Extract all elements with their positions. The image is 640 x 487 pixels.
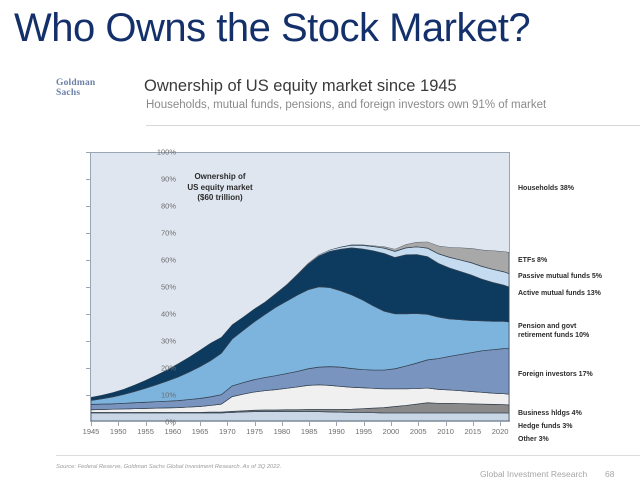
- legend-label: Pension and govt retirement funds 10%: [518, 322, 589, 340]
- y-axis-tick-label: 70%: [136, 229, 176, 238]
- divider-bottom: [56, 455, 640, 456]
- legend-label: Active mutual funds 13%: [518, 289, 601, 298]
- y-axis-tick-label: 10%: [136, 391, 176, 400]
- x-axis-tick-label: 1965: [192, 427, 209, 436]
- y-axis-tick-mark: [86, 179, 90, 180]
- x-axis-tick-mark: [473, 422, 474, 426]
- x-axis-tick-label: 1985: [301, 427, 318, 436]
- x-axis-tick-label: 2020: [492, 427, 509, 436]
- y-axis-tick-label: 50%: [136, 283, 176, 292]
- y-axis-tick-mark: [86, 341, 90, 342]
- y-axis-tick-mark: [86, 206, 90, 207]
- x-axis-tick-mark: [227, 422, 228, 426]
- logo-line-2: Sachs: [56, 89, 95, 99]
- x-axis-tick-label: 1960: [164, 427, 181, 436]
- y-axis-tick-mark: [86, 368, 90, 369]
- area-chart: 0%10%20%30%40%50%60%70%80%90%100% 194519…: [50, 142, 640, 454]
- x-axis-tick-mark: [200, 422, 201, 426]
- annotation-line: Ownership of: [155, 172, 285, 183]
- legend-label: Foreign investors 17%: [518, 370, 593, 379]
- page-title: Who Owns the Stock Market?: [14, 6, 530, 51]
- x-axis-tick-mark: [364, 422, 365, 426]
- footer-page-number: 68: [605, 469, 614, 479]
- legend-label: Households 38%: [518, 184, 574, 193]
- x-axis-tick-label: 1975: [246, 427, 263, 436]
- x-axis-tick-label: 2000: [383, 427, 400, 436]
- x-axis-tick-mark: [391, 422, 392, 426]
- legend-label: Hedge funds 3%: [518, 422, 572, 431]
- y-axis-tick-mark: [86, 314, 90, 315]
- legend-label: Other 3%: [518, 435, 549, 444]
- annotation-line: ($60 trillion): [155, 193, 285, 204]
- x-axis-tick-label: 1995: [355, 427, 372, 436]
- divider-top: [146, 125, 640, 126]
- x-axis-tick-label: 2010: [437, 427, 454, 436]
- slide-subheading: Households, mutual funds, pensions, and …: [146, 99, 546, 111]
- x-axis-tick-label: 2015: [464, 427, 481, 436]
- y-axis-tick-mark: [86, 152, 90, 153]
- footer-label: Global Investment Research: [480, 469, 587, 479]
- x-axis-tick-mark: [336, 422, 337, 426]
- y-axis-tick-mark: [86, 395, 90, 396]
- source-note: Source: Federal Reserve, Goldman Sachs G…: [56, 464, 281, 470]
- goldman-sachs-logo: Goldman Sachs: [56, 79, 95, 98]
- x-axis-tick-mark: [500, 422, 501, 426]
- x-axis-tick-label: 1945: [83, 427, 100, 436]
- slide-heading: Ownership of US equity market since 1945: [144, 77, 457, 96]
- x-axis-tick-label: 1970: [219, 427, 236, 436]
- x-axis-tick-mark: [118, 422, 119, 426]
- legend-label: ETFs 8%: [518, 256, 547, 265]
- y-axis-tick-mark: [86, 233, 90, 234]
- x-axis-tick-mark: [255, 422, 256, 426]
- y-axis-tick-mark: [86, 287, 90, 288]
- y-axis-tick-mark: [86, 260, 90, 261]
- y-axis-tick-label: 40%: [136, 310, 176, 319]
- legend-label: Passive mutual funds 5%: [518, 272, 602, 281]
- y-axis-tick-label: 0%: [136, 418, 176, 427]
- x-axis-tick-mark: [91, 422, 92, 426]
- chart-annotation: Ownership ofUS equity market($60 trillio…: [155, 172, 285, 204]
- y-axis-tick-label: 30%: [136, 337, 176, 346]
- annotation-line: US equity market: [155, 183, 285, 194]
- x-axis-tick-mark: [418, 422, 419, 426]
- x-axis-tick-label: 1955: [137, 427, 154, 436]
- x-axis-tick-mark: [173, 422, 174, 426]
- y-axis-tick-label: 100%: [136, 148, 176, 157]
- x-axis-tick-mark: [282, 422, 283, 426]
- x-axis-tick-mark: [446, 422, 447, 426]
- x-axis-tick-label: 1990: [328, 427, 345, 436]
- y-axis-tick-label: 20%: [136, 364, 176, 373]
- x-axis-tick-mark: [309, 422, 310, 426]
- x-axis-tick-label: 1980: [274, 427, 291, 436]
- x-axis-tick-label: 1950: [110, 427, 127, 436]
- legend-label: Business hldgs 4%: [518, 409, 582, 418]
- x-axis-tick-label: 2005: [410, 427, 427, 436]
- slide-card: Goldman Sachs Ownership of US equity mar…: [50, 70, 640, 487]
- y-axis-tick-label: 60%: [136, 256, 176, 265]
- x-axis-tick-mark: [146, 422, 147, 426]
